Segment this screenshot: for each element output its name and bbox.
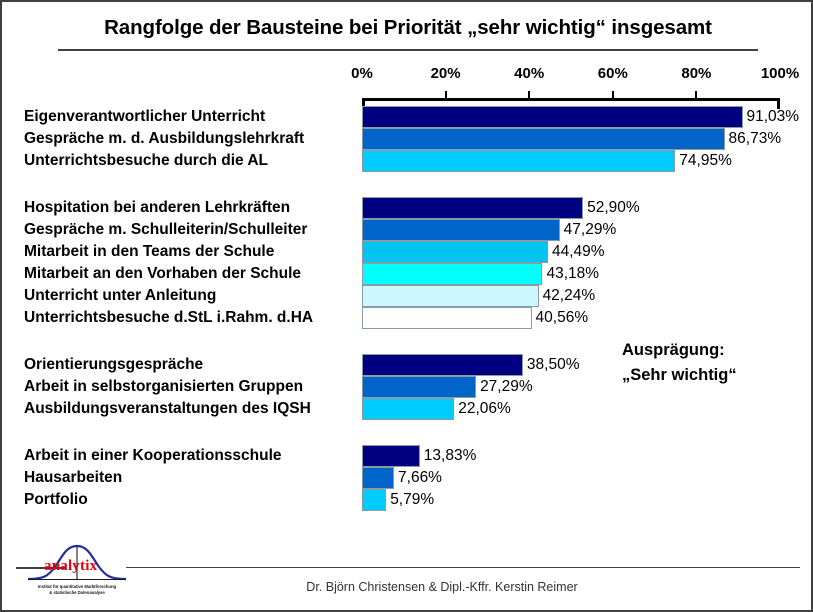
bar[interactable] xyxy=(362,467,394,489)
category-label: Mitarbeit in den Teams der Schule xyxy=(24,241,274,263)
bar-value-label: 44,49% xyxy=(548,243,605,261)
title-block: Rangfolge der Bausteine bei Priorität „s… xyxy=(54,16,762,40)
bar-value-label: 7,66% xyxy=(394,469,442,487)
category-label: Hospitation bei anderen Lehrkräften xyxy=(24,197,290,219)
bar[interactable] xyxy=(362,354,523,376)
footer-divider-right xyxy=(126,567,800,568)
bar-value-label: 22,06% xyxy=(454,400,511,418)
bar-row[interactable]: 43,18% xyxy=(362,263,780,285)
bar-row[interactable]: 74,95% xyxy=(362,150,780,172)
axis-tick-label: 100% xyxy=(761,65,799,82)
axis-tick-label: 0% xyxy=(351,65,373,82)
annotation-line-1: Ausprägung: xyxy=(622,338,737,363)
bar[interactable] xyxy=(362,489,386,511)
bar-row[interactable]: 47,29% xyxy=(362,219,780,241)
bar-row[interactable]: 52,90% xyxy=(362,197,780,219)
bar[interactable] xyxy=(362,219,560,241)
bar-row[interactable]: 7,66% xyxy=(362,467,780,489)
bar-value-label: 47,29% xyxy=(560,221,617,239)
bar-value-label: 52,90% xyxy=(583,199,640,217)
category-label: Eigenverantwortlicher Unterricht xyxy=(24,106,265,128)
bar-value-label: 5,79% xyxy=(386,491,434,509)
footer-credit: Dr. Björn Christensen & Dipl.-Kffr. Kers… xyxy=(242,580,642,594)
bar[interactable] xyxy=(362,376,476,398)
bar[interactable] xyxy=(362,285,539,307)
plot-area: 91,03%86,73%74,95%52,90%47,29%44,49%43,1… xyxy=(362,98,780,542)
bar-value-label: 27,29% xyxy=(476,378,533,396)
category-label: Portfolio xyxy=(24,489,88,511)
bar-row[interactable]: 5,79% xyxy=(362,489,780,511)
bar-value-label: 86,73% xyxy=(725,130,782,148)
title-divider xyxy=(58,49,758,51)
axis-tick-label: 60% xyxy=(598,65,628,82)
bar-value-label: 42,24% xyxy=(539,287,596,305)
page-title: Rangfolge der Bausteine bei Priorität „s… xyxy=(54,16,762,40)
category-label: Arbeit in einer Kooperationsschule xyxy=(24,445,282,467)
bar-value-label: 43,18% xyxy=(542,265,599,283)
bar-value-label: 13,83% xyxy=(420,447,477,465)
bar-row[interactable]: 91,03% xyxy=(362,106,780,128)
category-label: Unterrichtsbesuche d.StL i.Rahm. d.HA xyxy=(24,307,313,329)
axis-tick-label: 40% xyxy=(514,65,544,82)
axis-tick-labels: 0%20%40%60%80%100% xyxy=(362,65,780,85)
logo-subtitle-line-2: & statistische Datenanalyse xyxy=(22,590,132,596)
category-labels: Eigenverantwortlicher UnterrichtGespräch… xyxy=(24,98,356,542)
axis-tick-label: 20% xyxy=(431,65,461,82)
bar[interactable] xyxy=(362,398,454,420)
bar-value-label: 74,95% xyxy=(675,152,732,170)
bar[interactable] xyxy=(362,197,583,219)
chart-container: Rangfolge der Bausteine bei Priorität „s… xyxy=(0,0,813,612)
logo-subtitle: Institut für quantitative Marktforschung… xyxy=(22,584,132,596)
bar-row[interactable]: 13,83% xyxy=(362,445,780,467)
bar[interactable] xyxy=(362,307,532,329)
bar-row[interactable]: 44,49% xyxy=(362,241,780,263)
category-label: Unterrichtsbesuche durch die AL xyxy=(24,150,268,172)
bar-row[interactable]: 40,56% xyxy=(362,307,780,329)
category-label: Gespräche m. d. Ausbildungslehrkraft xyxy=(24,128,304,150)
category-label: Ausbildungsveranstaltungen des IQSH xyxy=(24,398,311,420)
axis-tick-label: 80% xyxy=(681,65,711,82)
category-label: Unterricht unter Anleitung xyxy=(24,285,216,307)
axis-tick xyxy=(612,91,614,99)
bar-value-label: 38,50% xyxy=(523,356,580,374)
axis-tick xyxy=(528,91,530,99)
bar[interactable] xyxy=(362,128,725,150)
bar[interactable] xyxy=(362,150,675,172)
annotation-block: Ausprägung: „Sehr wichtig“ xyxy=(622,338,737,388)
category-label: Arbeit in selbstorganisierten Gruppen xyxy=(24,376,303,398)
bar-row[interactable]: 86,73% xyxy=(362,128,780,150)
category-label: Mitarbeit an den Vorhaben der Schule xyxy=(24,263,301,285)
analytix-logo: analytix Institut für quantitative Markt… xyxy=(22,542,132,608)
annotation-line-2: „Sehr wichtig“ xyxy=(622,363,737,388)
bar-value-label: 40,56% xyxy=(532,309,589,327)
bar-value-label: 91,03% xyxy=(743,108,800,126)
bar[interactable] xyxy=(362,263,542,285)
axis-tick xyxy=(695,91,697,99)
category-label: Orientierungsgespräche xyxy=(24,354,203,376)
category-label: Gespräche m. Schulleiterin/Schulleiter xyxy=(24,219,307,241)
axis-tick xyxy=(445,91,447,99)
logo-wordmark: analytix xyxy=(44,558,97,575)
bar-row[interactable]: 42,24% xyxy=(362,285,780,307)
bar[interactable] xyxy=(362,445,420,467)
bar-row[interactable]: 22,06% xyxy=(362,398,780,420)
bar[interactable] xyxy=(362,241,548,263)
x-axis-line xyxy=(362,98,780,101)
bar[interactable] xyxy=(362,106,743,128)
category-label: Hausarbeiten xyxy=(24,467,122,489)
